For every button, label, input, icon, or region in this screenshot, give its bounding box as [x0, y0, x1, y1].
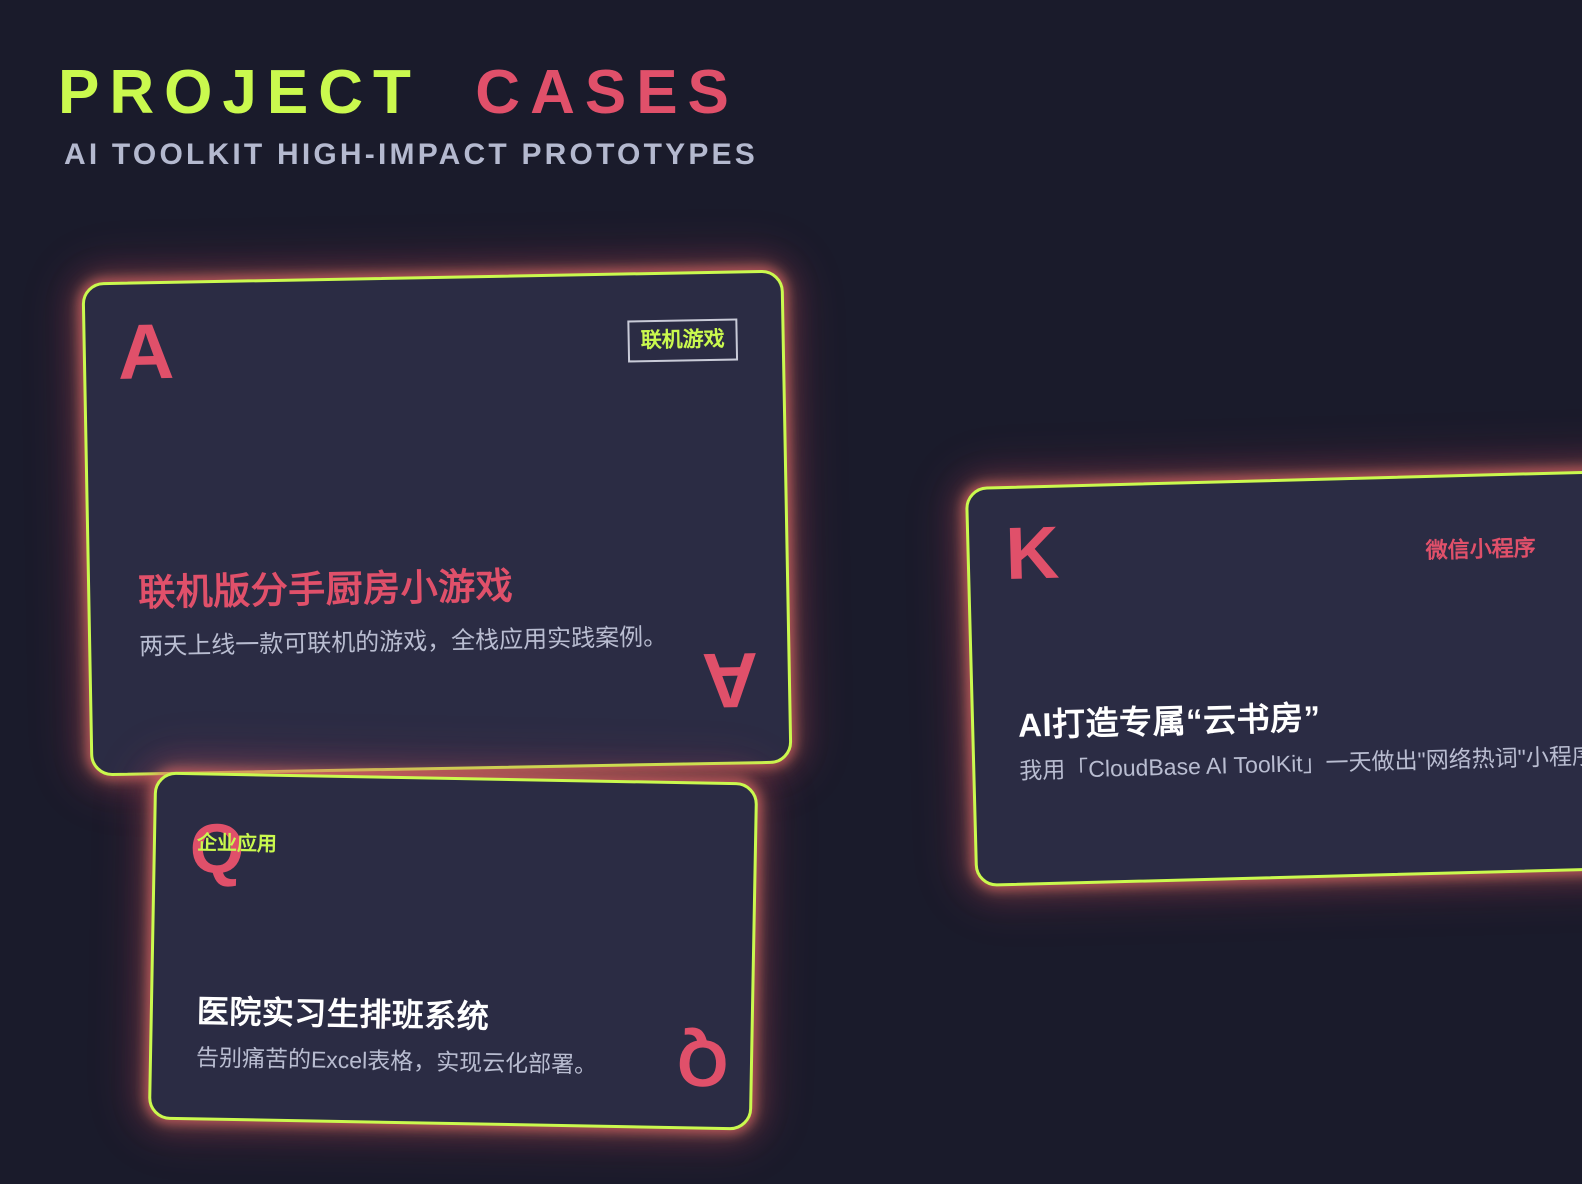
case-card-k[interactable]: K 微信小程序 AI打造专属“云书房” 我用「CloudBase AI Tool…	[965, 469, 1582, 887]
page-title: PROJECT CASES	[58, 62, 958, 124]
case-card-k-inner: K 微信小程序 AI打造专属“云书房” 我用「CloudBase AI Tool…	[968, 472, 1582, 884]
card-title-q: 医院实习生排班系统	[197, 993, 704, 1039]
card-description-k: 我用「CloudBase AI ToolKit」一天做出"网络热词"小程序	[1019, 738, 1582, 788]
card-ghost-letter-a: A	[701, 641, 759, 720]
slide-canvas: PROJECT CASES AI TOOLKIT HIGH-IMPACT PRO…	[0, 0, 1582, 1184]
slide-header: PROJECT CASES AI TOOLKIT HIGH-IMPACT PRO…	[58, 62, 958, 172]
case-card-q[interactable]: Q 企业应用 医院实习生排班系统 告别痛苦的Excel表格，实现云化部署。 Q	[148, 771, 758, 1130]
card-description-q: 告别痛苦的Excel表格，实现云化部署。	[196, 1040, 703, 1084]
card-letter-a: A	[117, 312, 175, 391]
card-body-q: 医院实习生排班系统 告别痛苦的Excel表格，实现云化部署。	[196, 993, 703, 1084]
card-ghost-letter-q: Q	[676, 1030, 729, 1097]
page-title-primary: PROJECT	[58, 58, 421, 127]
card-title-k: AI打造专属“云书房”	[1018, 691, 1582, 744]
case-card-a[interactable]: A 联机游戏 联机版分手厨房小游戏 两天上线一款可联机的游戏，全栈应用实践案例。…	[82, 270, 793, 777]
page-title-gap	[421, 58, 475, 127]
card-badge-q[interactable]: 企业应用	[197, 833, 277, 854]
card-body-a: 联机版分手厨房小游戏 两天上线一款可联机的游戏，全栈应用实践案例。	[138, 562, 736, 666]
card-title-a: 联机版分手厨房小游戏	[138, 562, 735, 615]
card-badge-k[interactable]: 微信小程序	[1425, 537, 1536, 562]
page-subtitle: AI TOOLKIT HIGH-IMPACT PROTOTYPES	[64, 138, 958, 172]
card-description-a: 两天上线一款可联机的游戏，全栈应用实践案例。	[139, 618, 736, 665]
case-card-q-inner: Q 企业应用 医院实习生排班系统 告别痛苦的Excel表格，实现云化部署。 Q	[151, 775, 755, 1128]
case-card-a-inner: A 联机游戏 联机版分手厨房小游戏 两天上线一款可联机的游戏，全栈应用实践案例。…	[85, 273, 790, 774]
card-letter-k: K	[1005, 516, 1060, 591]
page-title-secondary: CASES	[475, 58, 739, 127]
card-badge-a[interactable]: 联机游戏	[627, 318, 738, 362]
card-body-k: AI打造专属“云书房” 我用「CloudBase AI ToolKit」一天做出…	[1018, 691, 1582, 788]
